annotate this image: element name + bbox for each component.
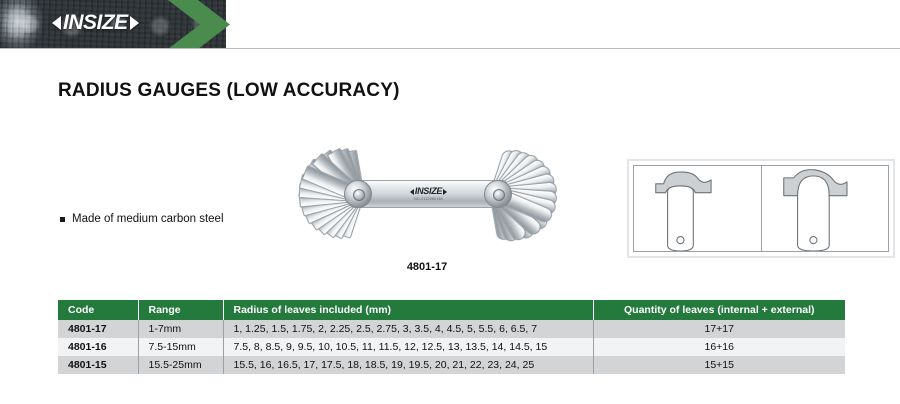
cell-code: 4801-17 (58, 320, 138, 338)
cell-radius: 7.5, 8, 8.5, 9, 9.5, 10, 10.5, 11, 11.5,… (223, 338, 593, 356)
internal-radius-icon (634, 166, 761, 251)
left-arrow-icon (52, 16, 61, 30)
table-row: 4801-167.5-15mm7.5, 8, 8.5, 9, 9.5, 10, … (58, 338, 845, 356)
feature-text: Made of medium carbon steel (72, 213, 224, 225)
cell-range: 1-7mm (138, 320, 223, 338)
cell-quantity: 16+16 (593, 338, 845, 356)
handle-serial-code: NO.2112080184 (414, 197, 443, 201)
cell-code: 4801-15 (58, 356, 138, 374)
table-header-row: Code Range Radius of leaves included (mm… (58, 300, 845, 320)
handle-right-arrow-icon (443, 189, 447, 195)
cell-quantity: 15+15 (593, 356, 845, 374)
external-radius-icon (762, 166, 889, 251)
header-range: Range (138, 300, 223, 320)
diagram-panel-internal (634, 166, 761, 251)
usage-diagram-frame (633, 165, 889, 252)
cell-radius: 15.5, 16, 16.5, 17, 17.5, 18, 18.5, 19, … (223, 356, 593, 374)
usage-diagram-box (627, 159, 895, 258)
specifications-table: Code Range Radius of leaves included (mm… (58, 300, 845, 374)
brand-logo-text: INSIZE (63, 12, 128, 33)
banner-divider-line (0, 48, 900, 49)
handle-left-arrow-icon (410, 189, 414, 195)
cell-quantity: 17+17 (593, 320, 845, 338)
page-banner: INSIZE (0, 0, 900, 49)
table-row: 4801-1515.5-25mm15.5, 16, 16.5, 17, 17.5… (58, 356, 845, 374)
handle-logo-text: INSIZE (415, 187, 442, 196)
header-code: Code (58, 300, 138, 320)
right-pivot-hub (484, 180, 512, 208)
cell-range: 15.5-25mm (138, 356, 223, 374)
left-pivot-hub (344, 180, 372, 208)
product-photo: INSIZE NO.2112080184 (292, 128, 562, 258)
header-quantity: Quantity of leaves (internal + external) (593, 300, 845, 320)
feature-list-item: Made of medium carbon steel (60, 213, 224, 225)
table-row: 4801-171-7mm1, 1.25, 1.5, 1.75, 2, 2.25,… (58, 320, 845, 338)
insize-brand-logo: INSIZE (52, 12, 139, 33)
cell-radius: 1, 1.25, 1.5, 1.75, 2, 2.25, 2.5, 2.75, … (223, 320, 593, 338)
page-title: RADIUS GAUGES (LOW ACCURACY) (58, 80, 400, 102)
handle-insize-logo: INSIZE (410, 187, 447, 196)
product-caption: 4801-17 (292, 261, 562, 273)
cell-code: 4801-16 (58, 338, 138, 356)
diagram-panel-external (761, 166, 889, 251)
square-bullet-icon (60, 217, 65, 222)
right-arrow-icon (130, 16, 139, 30)
header-radius: Radius of leaves included (mm) (223, 300, 593, 320)
cell-range: 7.5-15mm (138, 338, 223, 356)
